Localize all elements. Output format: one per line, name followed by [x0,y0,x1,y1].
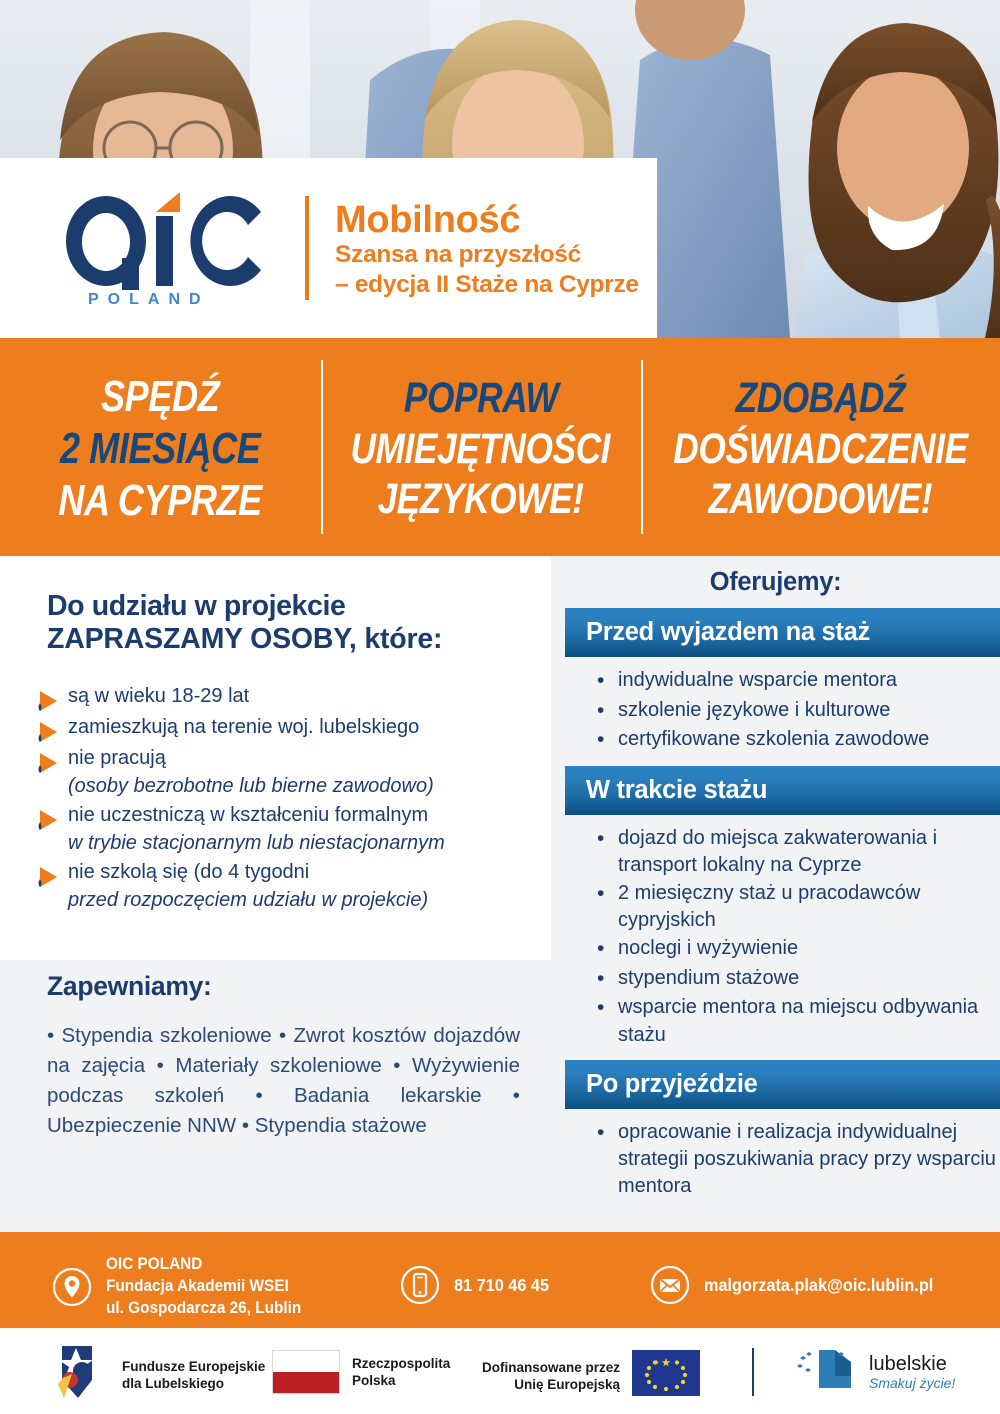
banner-line: DOŚWIADCZENIE [673,424,967,475]
lubelskie-tagline: Smakuj życie! [869,1375,955,1393]
list-item: zamieszkują na terenie woj. lubelskiego [38,714,538,743]
list-item-note: (osoby bezrobotne lub bierne zawodowo) [68,773,434,801]
banner-line: UMIEJĘTNOŚCI [351,424,611,475]
offer-column: Oferujemy: Przed wyjazdem na staż • indy… [551,556,1000,1232]
guarantee-heading: Zapewniamy: [47,971,551,1002]
flag-red-stripe [273,1372,339,1393]
org-street: ul. Gospodarcza 26, Lublin [106,1298,301,1320]
banner-line: ZAWODOWE! [709,474,933,525]
offer-section-list-0: • indywidualne wsparcie mentora • szkole… [597,667,997,755]
project-subtitle-2: – edycja II Staże na Cyprze [335,270,639,299]
eu-funds-logo: Fundusze Europejskie dla Lubelskiego [52,1344,265,1405]
banner-column-2: POPRAW UMIEJĘTNOŚCI JĘZYKOWE! [321,338,642,556]
lubelskie-name: lubelskie [869,1354,955,1375]
dot-bullet-icon: • [597,825,618,854]
guarantee-text: • Stypendia szkoleniowe • Zwrot kosztów … [47,1021,520,1142]
dot-bullet-icon: • [597,935,618,964]
offer-section-list-1: • dojazd do miejsca zakwaterowania i tra… [597,825,997,1049]
benefits-banner: SPĘDŹ 2 MIESIĄCE NA CYPRZE POPRAW UMIEJĘ… [0,338,1000,556]
lubelskie-mark-icon [795,1346,857,1401]
cofinanced-by-eu-logo: Dofinansowane przez Unię Europejską [482,1350,700,1401]
location-pin-icon [52,1267,92,1307]
list-item-label: nie pracują [68,747,166,769]
eligibility-heading: Do udziału w projekcie ZAPRASZAMY OSOBY,… [47,590,527,656]
arrow-bullet-icon [38,859,68,888]
list-item-label: zamieszkują na terenie woj. lubelskiego [68,714,419,742]
list-item-label: 2 miesięczny staż u pracodawców cypryjsk… [618,880,997,934]
list-item-label: wsparcie mentora na miejscu odbywania st… [618,994,997,1048]
eligibility-heading-line1: Do udziału w projekcie [47,590,527,623]
list-item: • opracowanie i realizacja indywidualnej… [597,1119,997,1201]
eu-funds-line1: Fundusze Europejskie [122,1358,265,1375]
org-unit: Fundacja Akademii WSEI [106,1276,301,1298]
dot-bullet-icon: • [597,726,618,755]
rp-line1: Rzeczpospolita [352,1355,450,1372]
rp-line2: Polska [352,1372,450,1389]
contact-phone[interactable]: 81 710 46 45 [400,1265,556,1305]
eligibility-heading-line2: ZAPRASZAMY OSOBY, które: [47,623,527,656]
poland-wordmark: POLAND [88,291,210,308]
envelope-icon [650,1265,690,1305]
contact-bar: OIC POLAND Fundacja Akademii WSEI ul. Go… [0,1232,1000,1328]
banner-line: SPĘDŹ [101,371,219,423]
contact-address: OIC POLAND Fundacja Akademii WSEI ul. Go… [52,1254,316,1320]
poland-flag-icon [272,1350,340,1394]
banner-line: 2 MIESIĄCE [60,423,260,475]
contact-address-text: OIC POLAND Fundacja Akademii WSEI ul. Go… [106,1254,301,1320]
eu-funds-mark-icon [52,1344,110,1405]
list-item: • indywidualne wsparcie mentora [597,667,997,696]
list-item-label: są w wieku 18-29 lat [68,683,249,711]
list-item: • noclegi i wyżywienie [597,935,997,964]
arrow-bullet-icon [38,745,68,774]
list-item-label: stypendium stażowe [618,965,799,992]
dot-bullet-icon: • [597,994,618,1023]
list-item-label: noclegi i wyżywienie [618,935,798,962]
list-item-note: przed rozpoczęciem udziału w projekcie) [68,887,428,915]
list-item: nie uczestniczą w kształceniu formalnym … [38,802,538,857]
banner-line: NA CYPRZE [59,475,262,527]
arrow-bullet-icon [38,683,68,712]
body-area: Do udziału w projekcie ZAPRASZAMY OSOBY,… [0,556,1000,1232]
republic-of-poland-logo: Rzeczpospolita Polska [272,1350,450,1394]
logo-divider [305,196,309,300]
logo-header-box: POLAND Mobilność Szansa na przyszłość – … [0,158,657,338]
project-subtitle-1: Szansa na przyszłość [335,240,639,269]
list-item: są w wieku 18-29 lat [38,683,538,712]
list-item: • szkolenie językowe i kulturowe [597,697,997,726]
phone-icon [400,1265,440,1305]
email-address[interactable]: malgorzata.plak@oic.lublin.pl [704,1275,933,1296]
list-item-label: indywidualne wsparcie mentora [618,667,897,694]
list-item-label: nie uczestniczą w kształceniu formalnym [68,804,428,826]
arrow-bullet-icon [38,714,68,743]
eu-funds-line2: dla Lubelskiego [122,1375,265,1392]
project-title-group: Mobilność Szansa na przyszłość – edycja … [335,197,639,299]
cofinanced-label: Dofinansowane przez Unię Europejską [482,1359,620,1393]
banner-column-3: ZDOBĄDŹ DOŚWIADCZENIE ZAWODOWE! [641,338,1000,556]
arrow-bullet-icon [38,802,68,831]
eu-funds-label: Fundusze Europejskie dla Lubelskiego [122,1358,265,1392]
eu-flag-icon [632,1350,700,1401]
list-item-note: w trybie stacjonarnym lub niestacjonarny… [68,830,445,858]
list-item: • dojazd do miejsca zakwaterowania i tra… [597,825,997,879]
oic-logo-mark: POLAND [58,188,283,308]
oic-poland-logo: POLAND [58,188,283,308]
poster-root: POLAND Mobilność Szansa na przyszłość – … [0,0,1000,1414]
banner-column-1: SPĘDŹ 2 MIESIĄCE NA CYPRZE [0,338,321,556]
offer-section-title: W trakcie stażu [586,776,767,805]
list-item: • certyfikowane szkolenia zawodowe [597,726,997,755]
offer-section-title: Po przyjeździe [586,1070,758,1099]
footer-divider [752,1348,754,1396]
eligibility-list: są w wieku 18-29 lat zamieszkują na tere… [38,683,538,915]
cofin-line2: Unię Europejską [482,1376,620,1393]
org-name: OIC POLAND [106,1254,301,1276]
dot-bullet-icon: • [597,1119,618,1148]
lubelskie-logo: lubelskie Smakuj życie! [795,1346,955,1401]
contact-email[interactable]: malgorzata.plak@oic.lublin.pl [650,1265,951,1305]
lubelskie-label: lubelskie Smakuj życie! [869,1354,955,1393]
dot-bullet-icon: • [597,697,618,726]
offer-section-list-2: • opracowanie i realizacja indywidualnej… [597,1119,997,1201]
cofin-line1: Dofinansowane przez [482,1359,620,1376]
republic-of-poland-label: Rzeczpospolita Polska [352,1355,450,1389]
offer-section-header-2: Po przyjeździe [565,1060,1000,1109]
list-item-label: szkolenie językowe i kulturowe [618,697,890,724]
offer-section-title: Przed wyjazdem na staż [586,618,870,647]
dot-bullet-icon: • [597,667,618,696]
list-item: nie pracują (osoby bezrobotne lub bierne… [38,745,538,800]
list-item: • 2 miesięczny staż u pracodawców cypryj… [597,880,997,934]
offer-section-header-1: W trakcie stażu [565,766,1000,815]
list-item-label: opracowanie i realizacja indywidualnej s… [618,1119,997,1201]
list-item-label: certyfikowane szkolenia zawodowe [618,726,929,753]
list-item-label: nie szkolą się (do 4 tygodni [68,861,309,883]
offer-section-header-0: Przed wyjazdem na staż [565,608,1000,657]
dot-bullet-icon: • [597,880,618,909]
flag-white-stripe [273,1351,339,1372]
banner-line: JĘZYKOWE! [378,474,584,525]
banner-line: POPRAW [404,373,558,424]
offer-heading: Oferujemy: [551,556,1000,597]
list-item: nie szkolą się (do 4 tygodni przed rozpo… [38,859,538,914]
eligibility-column: Do udziału w projekcie ZAPRASZAMY OSOBY,… [0,556,551,1232]
dot-bullet-icon: • [597,965,618,994]
funding-logos-bar: Fundusze Europejskie dla Lubelskiego Rze… [0,1328,1000,1414]
phone-number[interactable]: 81 710 46 45 [454,1275,549,1296]
project-title: Mobilność [335,201,639,241]
list-item: • wsparcie mentora na miejscu odbywania … [597,994,997,1048]
list-item-label: dojazd do miejsca zakwaterowania i trans… [618,825,997,879]
banner-line: ZDOBĄDŹ [736,373,905,424]
list-item: • stypendium stażowe [597,965,997,994]
